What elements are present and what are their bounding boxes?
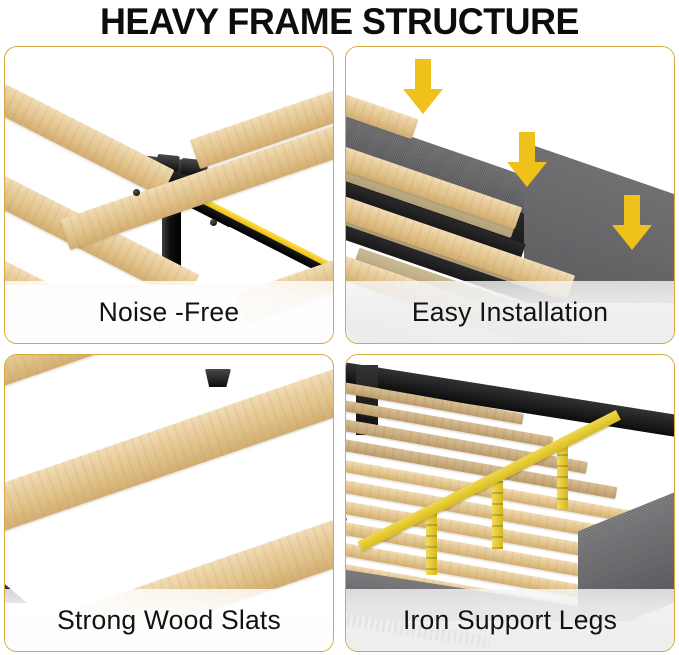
page-title: HEAVY FRAME STRUCTURE xyxy=(10,0,669,44)
screw-hole xyxy=(133,189,140,196)
panel-iron-support-legs: Iron Support Legs xyxy=(345,354,675,652)
panel-caption: Strong Wood Slats xyxy=(5,589,333,651)
infographic-page: HEAVY FRAME STRUCTURE xyxy=(0,0,679,655)
screw-hole xyxy=(210,219,217,226)
panel-caption: Easy Installation xyxy=(346,281,674,343)
iron-support-leg xyxy=(492,481,503,549)
iron-support-leg xyxy=(426,513,437,575)
panel-easy-installation: Easy Installation xyxy=(345,46,675,344)
iron-support-leg xyxy=(557,443,568,509)
panel-strong-wood-slats: Strong Wood Slats xyxy=(4,354,334,652)
panel-grid: Noise -Free xyxy=(4,46,675,652)
panel-caption: Noise -Free xyxy=(5,281,333,343)
wood-slat xyxy=(5,57,175,197)
install-arrow-down-icon xyxy=(506,132,548,188)
slat-clip xyxy=(205,369,231,387)
install-arrow-down-icon xyxy=(611,195,653,251)
panel-noise-free: Noise -Free xyxy=(4,46,334,344)
wood-slat xyxy=(5,362,333,555)
panel-caption: Iron Support Legs xyxy=(346,589,674,651)
install-arrow-down-icon xyxy=(402,59,444,115)
